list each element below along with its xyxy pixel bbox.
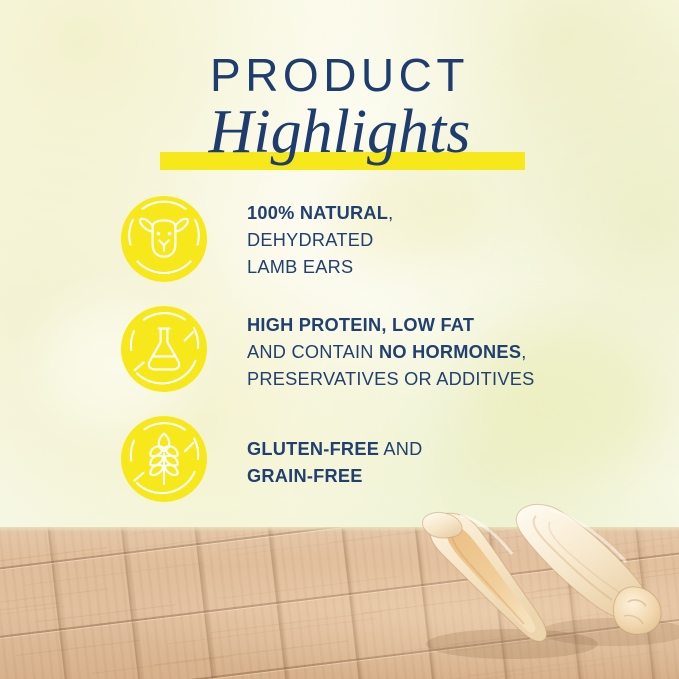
wood-grain-line [153, 640, 349, 665]
wood-grain-line [221, 544, 269, 551]
title-script: Highlights [209, 98, 471, 166]
plain-text: AND CONTAIN [247, 342, 379, 362]
wood-grain-line [80, 528, 288, 555]
no-flask-icon [121, 306, 207, 392]
list-item-line: PRESERVATIVES OR ADDITIVES [247, 366, 534, 393]
list-item-line: DEHYDRATED [247, 227, 393, 254]
wood-grain-line [218, 576, 401, 599]
list-item-text: HIGH PROTEIN, LOW FATAND CONTAIN NO HORM… [247, 306, 534, 392]
wood-grain-line [25, 563, 204, 586]
plank-seam [0, 667, 679, 679]
emphasis-text: HIGH PROTEIN, LOW FAT [247, 315, 474, 335]
product-highlights-infographic: PRODUCT Highlights [0, 0, 679, 679]
wood-grain-line [656, 674, 679, 679]
title-kicker: PRODUCT [0, 52, 679, 98]
list-item-text: GLUTEN-FREE ANDGRAIN-FREE [247, 416, 423, 490]
emphasis-text: GRAIN-FREE [247, 466, 363, 486]
list-item: 100% NATURAL,DEHYDRATEDLAMB EARS [0, 196, 679, 284]
emphasis-text: GLUTEN-FREE [247, 439, 379, 459]
list-item: HIGH PROTEIN, LOW FATAND CONTAIN NO HORM… [0, 306, 679, 394]
list-item-line: 100% NATURAL, [247, 200, 393, 227]
plain-text: , [388, 203, 393, 223]
wood-grain-line [210, 611, 382, 633]
no-grain-icon [121, 416, 207, 502]
list-item-line: LAMB EARS [247, 254, 393, 281]
plain-text: LAMB EARS [247, 257, 353, 277]
highlights-list: 100% NATURAL,DEHYDRATEDLAMB EARS [0, 196, 679, 526]
emphasis-text: NO HORMONES [379, 342, 521, 362]
emphasis-text: 100% NATURAL [247, 203, 388, 223]
wood-grain-line [0, 588, 108, 613]
list-item: GLUTEN-FREE ANDGRAIN-FREE [0, 416, 679, 504]
list-item-line: HIGH PROTEIN, LOW FAT [247, 312, 534, 339]
list-item-text: 100% NATURAL,DEHYDRATEDLAMB EARS [247, 196, 393, 280]
plain-text: DEHYDRATED [247, 230, 373, 250]
list-item-line: GRAIN-FREE [247, 463, 423, 490]
list-item-line: AND CONTAIN NO HORMONES, [247, 339, 534, 366]
list-item-line: GLUTEN-FREE AND [247, 436, 423, 463]
plain-text: PRESERVATIVES OR ADDITIVES [247, 369, 534, 389]
wood-grain-line [92, 656, 230, 674]
page-title: PRODUCT Highlights [0, 52, 679, 164]
plain-text: AND [379, 439, 422, 459]
lamb-head-icon [121, 196, 207, 282]
plain-text: , [521, 342, 526, 362]
title-script-wrap: Highlights [0, 100, 679, 164]
wood-grain-line [16, 640, 140, 656]
